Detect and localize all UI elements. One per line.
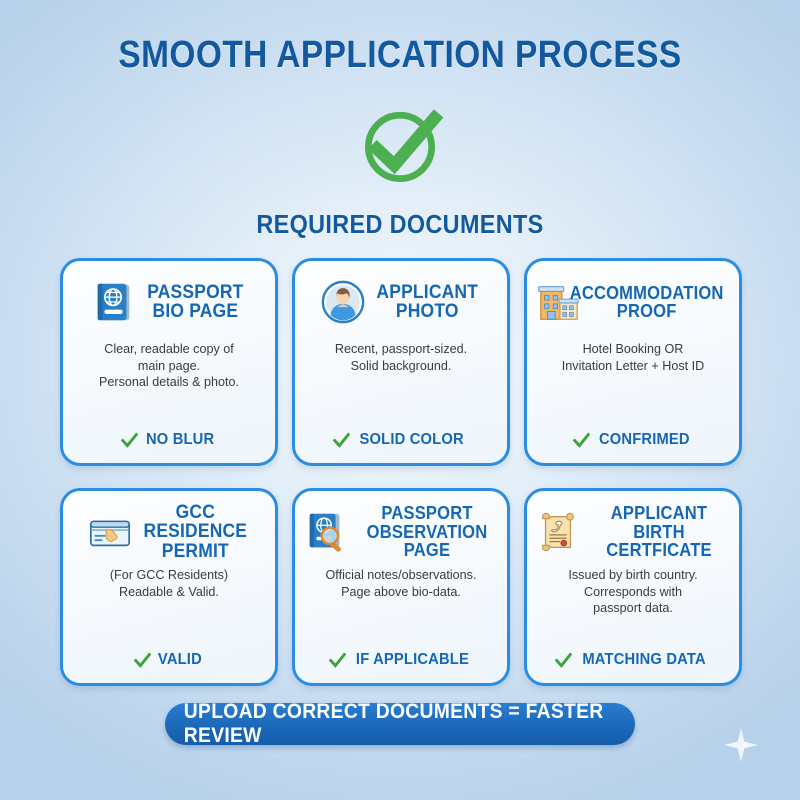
card-title: PASSPORT BIO PAGE [147,283,243,322]
card-title-line-3: PERMIT [143,542,247,561]
card-badge-label: NO BLUR [146,431,214,449]
card-desc-line-1: Recent, passport-sized. [335,341,467,358]
card-description: Hotel Booking OR Invitation Letter + Hos… [535,333,731,431]
card-badge: IF APPLICABLE [303,651,499,671]
card-header: GCC RESIDENCE PERMIT [71,501,267,563]
card-title-line-2: OBSERVATION PAGE [361,523,493,560]
card-desc-line-3: Personal details & photo. [99,374,239,391]
residence-permit-card-icon [87,509,133,555]
birth-certificate-scroll-icon [535,509,581,555]
card-description: (For GCC Residents) Readable & Valid. [71,563,267,651]
card-description: Recent, passport-sized. Solid background… [303,333,499,431]
green-check-icon [555,652,572,669]
card-header: ACCOMMODATION PROOF [535,271,731,333]
card-header: PASSPORT OBSERVATION PAGE [303,501,499,563]
green-check-circle-icon [352,97,448,193]
card-accommodation-proof[interactable]: ACCOMMODATION PROOF Hotel Booking OR Inv… [524,258,742,466]
card-gcc-residence-permit[interactable]: GCC RESIDENCE PERMIT (For GCC Residents)… [60,488,278,686]
card-badge-label: SOLID COLOR [360,431,464,449]
card-title: GCC RESIDENCE PERMIT [143,503,247,561]
card-desc-line-2: Readable & Valid. [110,584,228,601]
card-description: Issued by birth country. Corresponds wit… [535,563,731,651]
card-title-line-2: RESIDENCE [143,522,247,541]
card-desc-line-2: main page. [99,358,239,375]
card-desc-line-1: Official notes/observations. [326,567,477,584]
section-title: REQUIRED DOCUMENTS [40,209,760,240]
passport-book-icon [91,279,137,325]
green-check-icon [329,652,346,669]
card-header: PASSPORT BIO PAGE [71,271,267,333]
footer-banner-text: UPLOAD CORRECT DOCUMENTS = FASTER REVIEW [184,700,616,748]
card-desc-line-2: Invitation Letter + Host ID [562,358,704,375]
card-title-line-1: GCC [143,503,247,522]
green-check-icon [573,432,590,449]
card-badge: VALID [71,651,267,671]
card-title-line-1: ACCOMMODATION [570,284,724,302]
page-title: SMOOTH APPLICATION PROCESS [48,0,752,77]
card-desc-line-2: Corresponds with [568,584,697,601]
sparkle-star-icon [724,728,758,762]
applicant-photo-avatar-icon [320,279,366,325]
card-description: Clear, readable copy of main page. Perso… [71,333,267,431]
footer-cta-banner[interactable]: UPLOAD CORRECT DOCUMENTS = FASTER REVIEW [165,703,635,745]
card-title-line-1: PASSPORT [147,283,243,302]
card-desc-line-2: Page above bio-data. [326,584,477,601]
card-title: APPLICANT BIRTH CERTFICATE [593,504,725,559]
card-badge-label: CONFRIMED [599,431,690,449]
card-header: APPLICANT PHOTO [303,271,499,333]
card-passport-observation-page[interactable]: PASSPORT OBSERVATION PAGE Official notes… [292,488,510,686]
card-badge: MATCHING DATA [535,651,731,671]
card-desc-line-1: (For GCC Residents) [110,567,228,584]
card-desc-line-1: Issued by birth country. [568,567,697,584]
green-check-icon [134,652,151,669]
card-badge-label: VALID [158,651,202,669]
card-badge-label: IF APPLICABLE [355,651,468,669]
card-badge: SOLID COLOR [303,431,499,451]
green-check-icon [333,432,350,449]
card-desc-line-2: Solid background. [335,358,467,375]
card-title-line-2: BIRTH CERTFICATE [593,523,725,560]
card-badge-label: MATCHING DATA [582,651,705,669]
green-check-icon [121,432,138,449]
card-desc-line-1: Clear, readable copy of [99,341,239,358]
card-title-line-1: APPLICANT [593,504,725,522]
card-title-line-2: PHOTO [376,302,478,321]
card-title: PASSPORT OBSERVATION PAGE [361,504,493,559]
card-header: APPLICANT BIRTH CERTFICATE [535,501,731,563]
card-badge: NO BLUR [71,431,267,451]
card-desc-line-1: Hotel Booking OR [562,341,704,358]
card-description: Official notes/observations. Page above … [303,563,499,651]
card-desc-line-3: passport data. [568,600,697,617]
required-documents-grid: PASSPORT BIO PAGE Clear, readable copy o… [60,258,742,686]
passport-magnifier-icon [303,509,349,555]
card-passport-bio-page[interactable]: PASSPORT BIO PAGE Clear, readable copy o… [60,258,278,466]
card-applicant-birth-certificate[interactable]: APPLICANT BIRTH CERTFICATE Issued by bir… [524,488,742,686]
card-title-line-1: PASSPORT [361,504,493,522]
card-badge: CONFRIMED [535,431,731,451]
card-applicant-photo[interactable]: APPLICANT PHOTO Recent, passport-sized. … [292,258,510,466]
card-title-line-2: BIO PAGE [147,302,243,321]
card-title-line-2: PROOF [570,302,724,320]
card-title: ACCOMMODATION PROOF [570,284,724,321]
card-title-line-1: APPLICANT [376,283,478,302]
card-title: APPLICANT PHOTO [376,283,478,322]
